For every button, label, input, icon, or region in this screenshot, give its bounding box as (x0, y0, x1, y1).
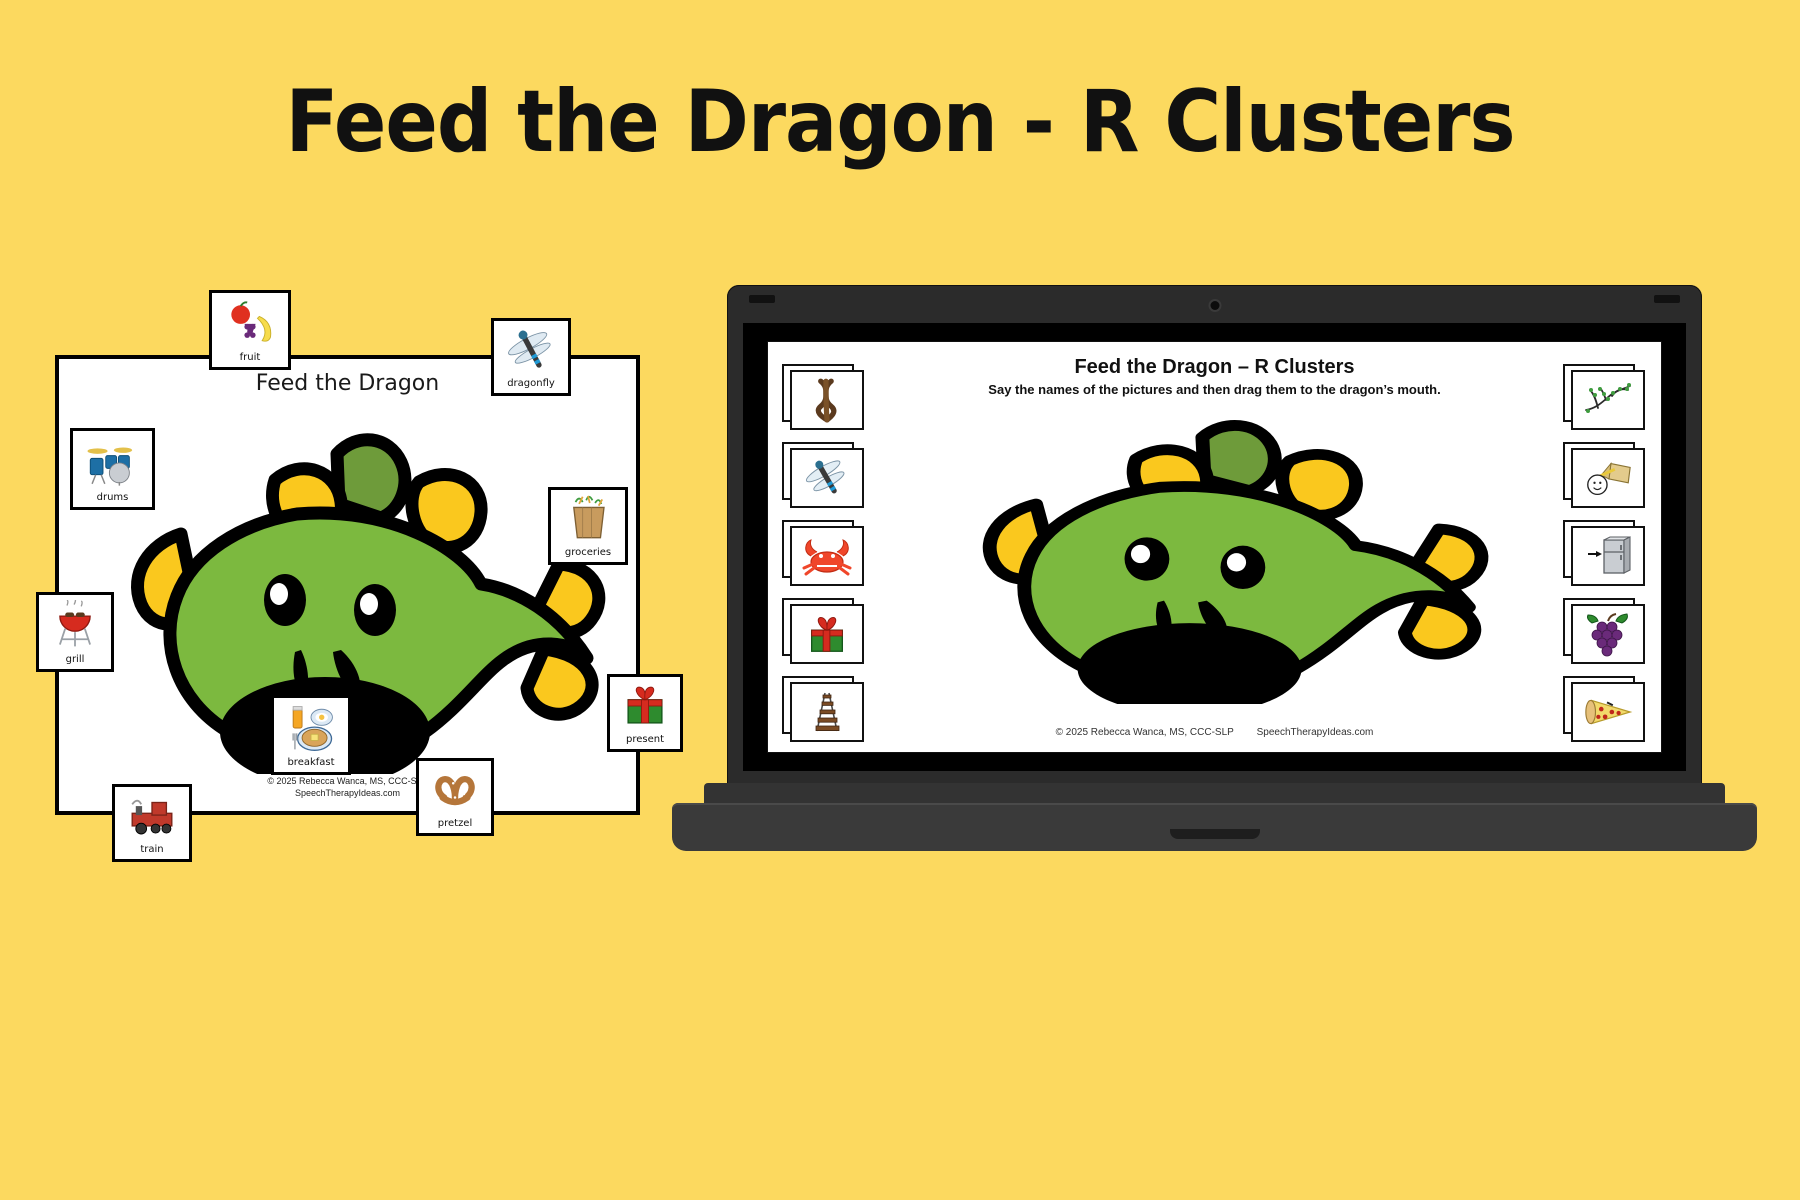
picture-card-label: train (140, 844, 163, 859)
picture-card-label: fruit (240, 352, 261, 367)
grapes-icon (1582, 611, 1634, 657)
train-icon (115, 787, 189, 844)
slide-instructions: Say the names of the pictures and then d… (768, 382, 1661, 397)
drawing-icon (1582, 455, 1634, 501)
picture-card-label: breakfast (287, 757, 334, 772)
picture-card-train[interactable]: train (112, 784, 192, 862)
picture-card-breakfast[interactable]: breakfast (271, 695, 351, 775)
laptop-base (672, 803, 1757, 851)
card-front-sheet[interactable] (1571, 526, 1645, 586)
picture-card-grill[interactable]: grill (36, 592, 114, 672)
slide-card-braid[interactable] (782, 364, 866, 430)
picture-card-label: grill (66, 654, 85, 669)
present-icon (610, 677, 680, 734)
slide-card-branch[interactable] (1563, 364, 1647, 430)
card-front-sheet[interactable] (790, 448, 864, 508)
grill-icon (39, 595, 111, 654)
picture-card-dragonfly[interactable]: dragonfly (491, 318, 571, 396)
card-front-sheet[interactable] (790, 604, 864, 664)
slide-credit-site: SpeechTherapyIdeas.com (1257, 727, 1374, 738)
slide-canvas[interactable]: Feed the Dragon – R Clusters Say the nam… (767, 341, 1662, 753)
card-front-sheet[interactable] (1571, 604, 1645, 664)
laptop-base-lip (1170, 829, 1260, 839)
groceries-icon (551, 490, 625, 547)
laptop-device: Feed the Dragon – R Clusters Say the nam… (672, 285, 1757, 860)
bezel-notch-right (1654, 295, 1680, 303)
slide-card-dragonfly[interactable] (782, 442, 866, 508)
card-front-sheet[interactable] (1571, 370, 1645, 430)
card-front-sheet[interactable] (790, 370, 864, 430)
page-title: Feed the Dragon - R Clusters (0, 72, 1800, 172)
picture-card-label: groceries (565, 547, 611, 562)
laptop-lid: Feed the Dragon – R Clusters Say the nam… (727, 285, 1702, 805)
fruit-icon (212, 293, 288, 352)
dragonfly-icon (494, 321, 568, 378)
laptop-screen: Feed the Dragon – R Clusters Say the nam… (743, 323, 1686, 771)
slide-card-fridge[interactable] (1563, 520, 1647, 586)
slide-dragon-illustration[interactable] (938, 404, 1503, 704)
slide-card-drawing[interactable] (1563, 442, 1647, 508)
crab-icon (801, 533, 853, 579)
card-front-sheet[interactable] (1571, 448, 1645, 508)
right-card-tray (1563, 364, 1647, 742)
slide-card-crab[interactable] (782, 520, 866, 586)
present-icon (801, 611, 853, 657)
picture-card-groceries[interactable]: groceries (548, 487, 628, 565)
braid-icon (801, 377, 853, 423)
slide-card-grapes[interactable] (1563, 598, 1647, 664)
slide-credit: © 2025 Rebecca Wanca, MS, CCC-SLP Speech… (768, 727, 1661, 738)
dragonfly-icon (801, 455, 853, 501)
card-front-sheet[interactable] (790, 526, 864, 586)
webcam-icon (1210, 301, 1219, 310)
slide-title: Feed the Dragon – R Clusters (768, 356, 1661, 379)
picture-card-label: pretzel (438, 818, 473, 833)
fridge-icon (1582, 533, 1634, 579)
picture-card-label: dragonfly (507, 378, 555, 393)
breakfast-icon (274, 698, 348, 757)
picture-card-label: present (626, 734, 664, 749)
dragon-illustration (89, 414, 619, 774)
bezel-notch-left (749, 295, 775, 303)
picture-card-label: drums (97, 492, 129, 507)
pretzel-icon (419, 761, 491, 818)
branch-icon (1582, 377, 1634, 423)
drums-icon (73, 431, 152, 492)
slide-card-present[interactable] (782, 598, 866, 664)
left-card-tray (782, 364, 866, 742)
picture-card-fruit[interactable]: fruit (209, 290, 291, 370)
slide-credit-author: © 2025 Rebecca Wanca, MS, CCC-SLP (1056, 727, 1234, 738)
picture-card-drums[interactable]: drums (70, 428, 155, 510)
picture-card-pretzel[interactable]: pretzel (416, 758, 494, 836)
laptop-bezel (727, 285, 1702, 323)
